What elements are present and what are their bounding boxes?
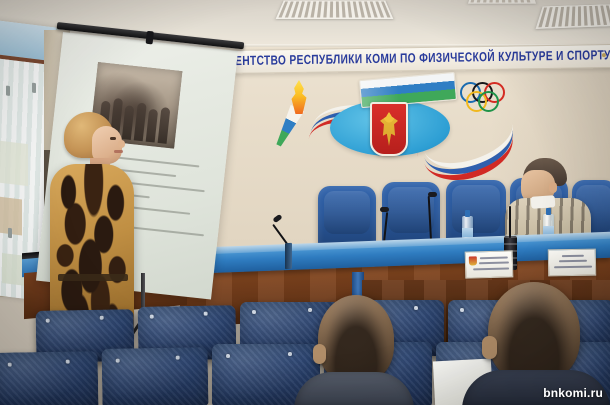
woman-eye	[110, 137, 116, 140]
ring-green	[478, 91, 499, 112]
komi-bird-icon	[380, 112, 398, 146]
name-plate-left	[465, 250, 514, 278]
audience-hair	[488, 282, 580, 382]
plate-line	[480, 257, 508, 259]
screen-bracket	[146, 31, 154, 45]
banner-text: ГЕНТСТВО РЕСПУБЛИКИ КОМИ ПО ФИЗИЧЕСКОЙ К…	[229, 48, 610, 69]
audience-ear	[482, 336, 497, 359]
bottle-label	[462, 228, 473, 237]
table-seam	[285, 243, 292, 269]
audience-shoulders	[294, 372, 414, 405]
banner-pin	[602, 53, 606, 57]
board-clip	[8, 228, 12, 238]
board-clip	[32, 83, 36, 93]
speaker-woman	[42, 112, 147, 340]
name-plate-right	[548, 249, 596, 277]
plate-line	[562, 255, 584, 257]
woman-belt	[58, 274, 128, 281]
audience-seat	[102, 347, 209, 405]
notice-sheet	[0, 141, 28, 187]
board-clip	[6, 85, 10, 95]
woman-nose	[118, 140, 125, 148]
audience-seat	[0, 351, 98, 405]
microphone-head	[428, 192, 437, 197]
plate-line	[559, 260, 587, 262]
plate-line	[554, 266, 592, 268]
komi-coat-of-arms-icon	[370, 102, 408, 156]
audience-hair	[318, 295, 394, 383]
ceiling-light-grille	[276, 0, 394, 19]
audience-ear	[313, 344, 326, 364]
man-collar	[531, 195, 556, 209]
ceiling-light-grille	[536, 4, 610, 29]
presidium-chair	[318, 186, 376, 248]
komi-sport-emblem	[272, 74, 522, 166]
man-ear	[549, 182, 557, 193]
microphone-head	[380, 207, 389, 212]
olympic-rings-icon	[460, 82, 522, 112]
microphone-stem	[509, 206, 511, 238]
watermark: bnkomi.ru	[543, 386, 603, 400]
plate-line	[479, 261, 509, 263]
woman-mouth	[114, 150, 123, 153]
plate-line	[473, 267, 509, 270]
ceiling-light-grille	[468, 0, 536, 4]
plate-crest-icon	[469, 256, 477, 265]
conference-hall-photo: ГЕНТСТВО РЕСПУБЛИКИ КОМИ ПО ФИЗИЧЕСКОЙ К…	[0, 0, 610, 405]
